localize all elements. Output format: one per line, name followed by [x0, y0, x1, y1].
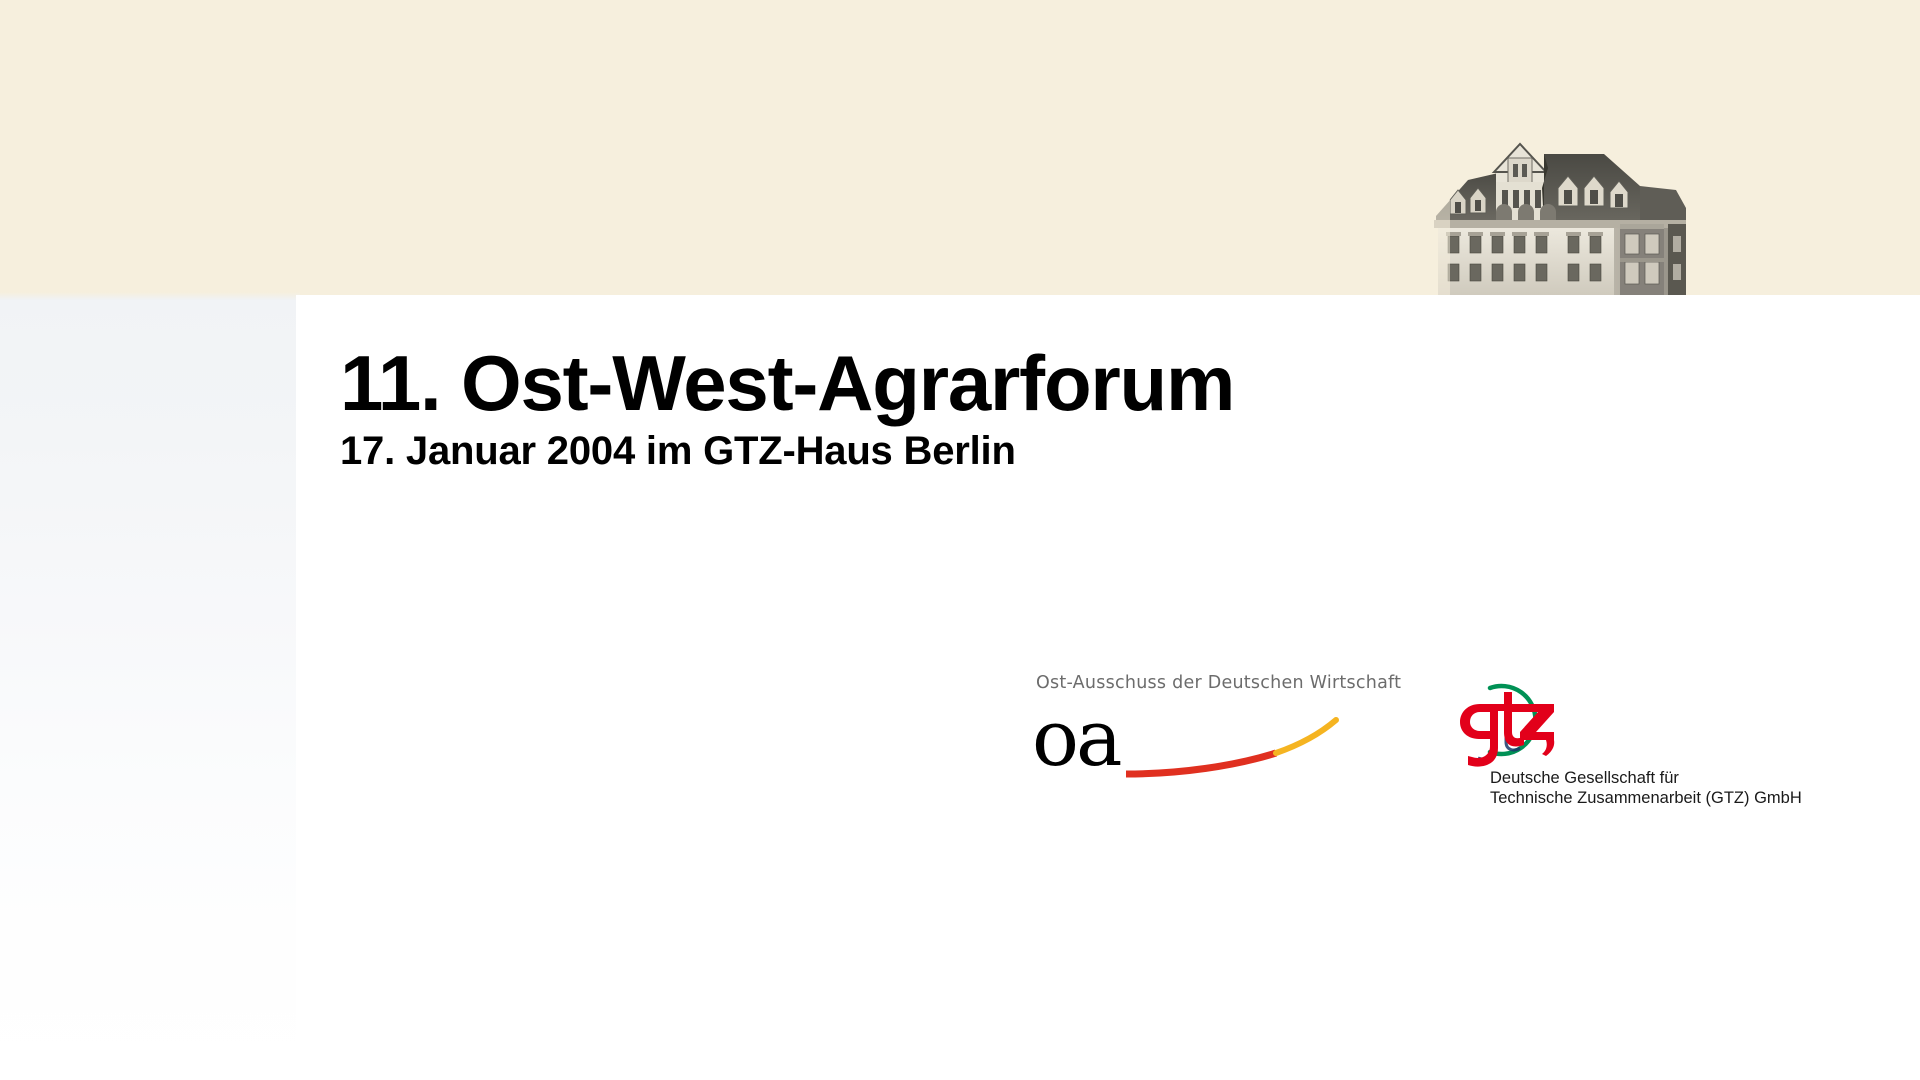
presentation-slide: 11. Ost-West-Agrarforum 17. Januar 2004 … [0, 0, 1920, 1080]
headline-block: 11. Ost-West-Agrarforum 17. Januar 2004 … [340, 340, 1540, 474]
logo-row: Ost-Ausschuss der Deutschen Wirtschaft o… [1030, 672, 1860, 802]
left-gradient-panel [0, 296, 300, 1080]
oa-logo-mark: oa [1030, 698, 1390, 782]
page-title: 11. Ost-West-Agrarforum [340, 340, 1540, 426]
gtz-claim-line-1: Deutsche Gesellschaft für [1490, 768, 1802, 788]
white-content-card-lower [296, 770, 1920, 1080]
gtz-logo-mark [1450, 666, 1570, 774]
oa-logo: Ost-Ausschuss der Deutschen Wirtschaft o… [1030, 672, 1390, 782]
oa-logo-claim: Ost-Ausschuss der Deutschen Wirtschaft [1036, 672, 1401, 694]
gtz-haus-building-photo [1424, 128, 1704, 296]
left-panel-seam [0, 292, 300, 300]
gtz-logo-claim: Deutsche Gesellschaft für Technische Zus… [1490, 768, 1802, 808]
gtz-logo: Deutsche Gesellschaft für Technische Zus… [1450, 666, 1850, 806]
gtz-claim-line-2: Technische Zusammenarbeit (GTZ) GmbH [1490, 788, 1802, 808]
page-subtitle: 17. Januar 2004 im GTZ-Haus Berlin [340, 426, 1540, 474]
